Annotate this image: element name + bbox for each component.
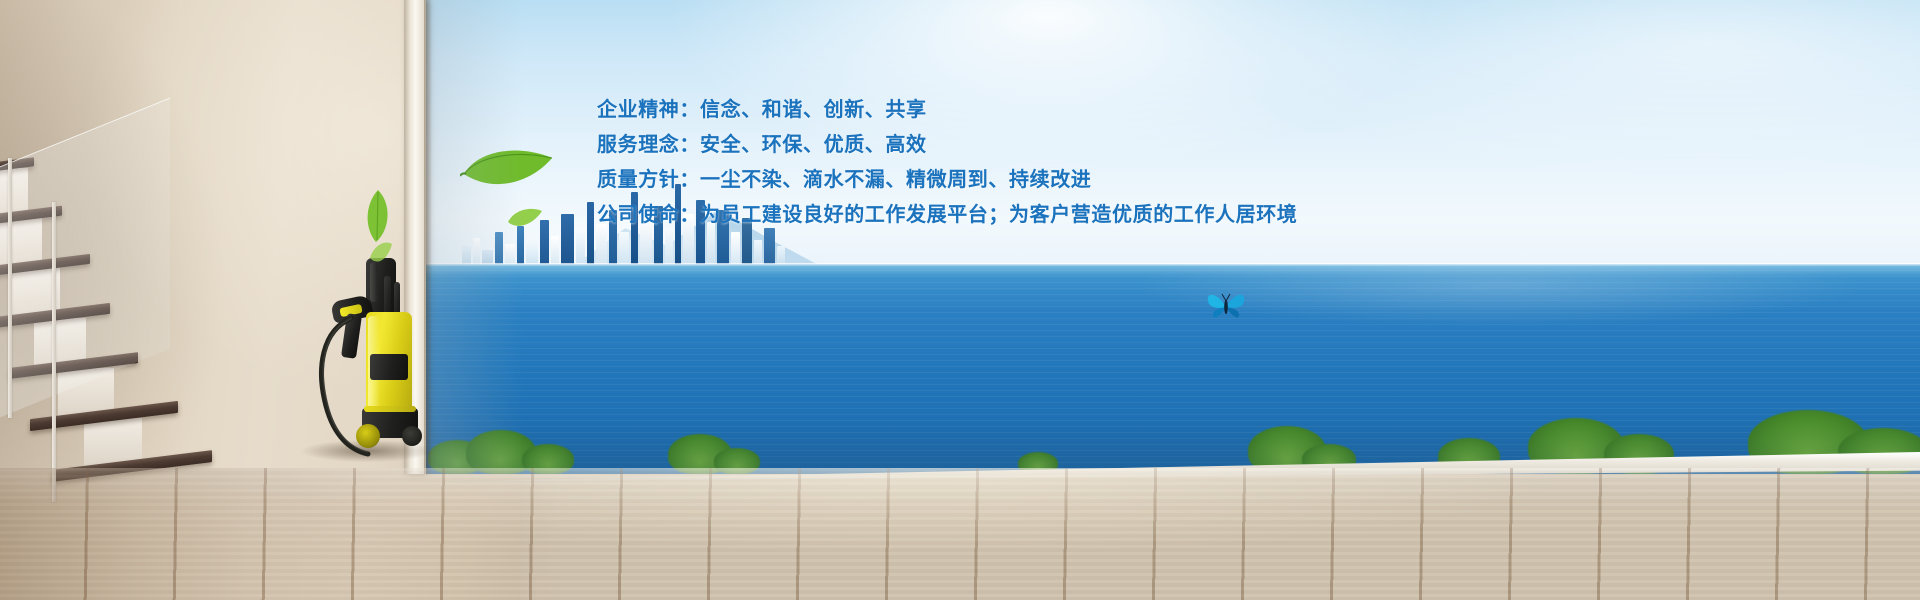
floating-leaf (368, 238, 394, 268)
floating-leaf (362, 188, 394, 244)
philosophy-line-spirit: 企业精神：信念、和谐、创新、共享 (597, 92, 1377, 127)
horizon-line (418, 263, 1920, 266)
railing-post (8, 158, 12, 418)
washer-handle-grip (370, 262, 378, 302)
corporate-philosophy-text: 企业精神：信念、和谐、创新、共享 服务理念：安全、环保、优质、高效 质量方针：一… (597, 92, 1377, 232)
washer-base-stripe (364, 406, 416, 412)
floating-leaf (506, 206, 544, 232)
corporate-banner: 企业精神：信念、和谐、创新、共享 服务理念：安全、环保、优质、高效 质量方针：一… (0, 0, 1920, 600)
floating-staircase (0, 140, 250, 480)
blue-butterfly (1204, 285, 1248, 334)
washer-wheel (402, 426, 422, 446)
pressure-washer (310, 258, 430, 458)
washer-panel (370, 354, 408, 380)
philosophy-line-service: 服务理念：安全、环保、优质、高效 (597, 127, 1377, 162)
seascape-mural (418, 0, 1920, 474)
wooden-floor (0, 468, 1920, 600)
floor-shadow-left (0, 468, 560, 600)
philosophy-line-mission: 公司使命：为员工建设良好的工作发展平台；为客户营造优质的工作人居环境 (597, 197, 1377, 232)
floating-leaf (460, 146, 556, 196)
philosophy-line-quality: 质量方针：一尘不染、滴水不漏、精微周到、持续改进 (597, 162, 1377, 197)
washer-wheel (356, 424, 380, 448)
railing-post (52, 202, 56, 502)
